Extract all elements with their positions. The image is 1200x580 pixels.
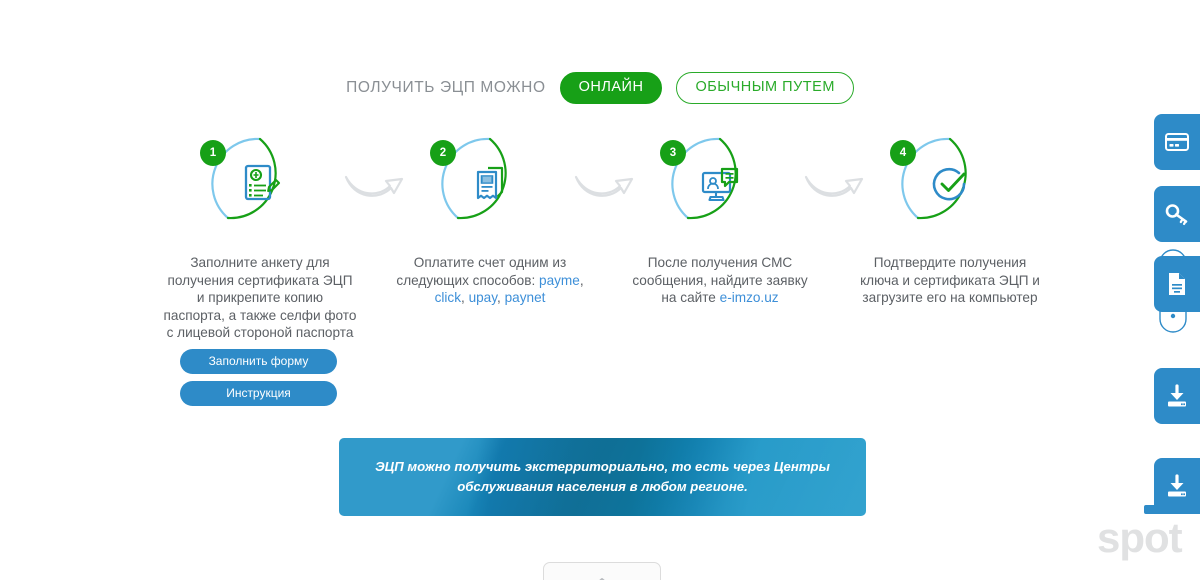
scroll-to-top-button[interactable] <box>543 562 661 580</box>
step-1-description: Заполните анкету для получения сертифика… <box>155 254 365 342</box>
instruction-button[interactable]: Инструкция <box>180 381 337 406</box>
step-arrow-icon <box>342 163 408 207</box>
step-4-circle: 4 <box>896 130 1004 238</box>
monitor-chat-icon <box>696 160 744 208</box>
chevron-up-icon <box>594 573 610 580</box>
step-2: 2 <box>385 130 595 238</box>
link-click[interactable]: click <box>435 290 461 305</box>
credit-card-icon <box>1164 129 1190 155</box>
step-1-badge: 1 <box>200 140 226 166</box>
step-1-line-3: и прикрепите копию <box>197 290 323 305</box>
step-1-line-5: с лицевой стороной паспорта <box>167 325 354 340</box>
info-banner-text: ЭЦП можно получить экстерриториально, то… <box>368 457 838 497</box>
step-4: 4 <box>845 130 1055 238</box>
sidebar-item-payment[interactable] <box>1154 114 1200 170</box>
step-2-circle: 2 <box>436 130 544 238</box>
step-2-line-1: Оплатите счет одним из <box>414 255 566 270</box>
step-4-line-2: ключа и сертификата ЭЦП и <box>860 273 1040 288</box>
sidebar-item-key[interactable] <box>1154 186 1200 242</box>
key-icon <box>1164 201 1190 227</box>
step-1-circle: 1 <box>206 130 314 238</box>
step-1-line-4: паспорта, а также селфи фото <box>164 308 357 323</box>
sidebar-item-download-2[interactable] <box>1154 458 1200 514</box>
document-icon <box>1164 271 1190 297</box>
link-paynet[interactable]: paynet <box>505 290 546 305</box>
step-1-line-1: Заполните анкету для <box>190 255 329 270</box>
step-1-actions: Заполнить форму Инструкция <box>180 349 337 413</box>
document-with-pencil-icon <box>236 160 284 208</box>
fill-form-button[interactable]: Заполнить форму <box>180 349 337 374</box>
link-e-imzo-uz[interactable]: e-imzo.uz <box>720 290 779 305</box>
step-2-line-2-prefix: следующих способов: <box>396 273 539 288</box>
step-arrow-icon <box>802 163 868 207</box>
toggle-traditional[interactable]: ОБЫЧНЫМ ПУТЕМ <box>676 72 853 104</box>
step-3-line-1: После получения СМС <box>648 255 792 270</box>
step-3-circle: 3 <box>666 130 774 238</box>
check-circle-icon <box>926 160 974 208</box>
step-3-line-2: сообщения, найдите заявку <box>632 273 807 288</box>
step-2-comma-2: , <box>461 290 469 305</box>
toggle-online[interactable]: ОНЛАЙН <box>560 72 663 104</box>
link-upay[interactable]: upay <box>469 290 497 305</box>
get-ecp-header: ПОЛУЧИТЬ ЭЦП МОЖНО ОНЛАЙН ОБЫЧНЫМ ПУТЕМ <box>0 72 1200 104</box>
step-4-line-1: Подтвердите получения <box>874 255 1026 270</box>
step-3-description: После получения СМС сообщения, найдите з… <box>615 254 825 307</box>
step-2-description: Оплатите счет одним из следующих способо… <box>385 254 595 307</box>
info-banner: ЭЦП можно получить экстерриториально, то… <box>339 438 866 516</box>
step-3: 3 <box>615 130 825 238</box>
step-4-line-3: загрузите его на компьютер <box>862 290 1037 305</box>
download-icon <box>1164 473 1190 499</box>
step-arrow-icon <box>572 163 638 207</box>
step-4-description: Подтвердите получения ключа и сертификат… <box>845 254 1055 307</box>
step-3-badge: 3 <box>660 140 686 166</box>
page-root: ПОЛУЧИТЬ ЭЦП МОЖНО ОНЛАЙН ОБЫЧНЫМ ПУТЕМ … <box>0 0 1200 580</box>
sidebar-item-document[interactable] <box>1154 256 1200 312</box>
step-1: 1 <box>155 130 365 238</box>
step-2-badge: 2 <box>430 140 456 166</box>
spot-watermark: spot <box>1097 517 1182 559</box>
step-2-comma-1: , <box>580 273 584 288</box>
step-2-comma-3: , <box>497 290 505 305</box>
step-1-line-2: получения сертификата ЭЦП <box>168 273 353 288</box>
sidebar-item-download-1[interactable] <box>1154 368 1200 424</box>
link-payme[interactable]: payme <box>539 273 580 288</box>
step-4-badge: 4 <box>890 140 916 166</box>
right-sidebar <box>1152 0 1200 580</box>
info-banner-line-2: населения в любом регионе. <box>557 479 748 494</box>
step-3-line-3-prefix: на сайте <box>661 290 719 305</box>
receipt-invoice-icon <box>466 160 514 208</box>
download-icon <box>1164 383 1190 409</box>
header-label: ПОЛУЧИТЬ ЭЦП МОЖНО <box>346 79 546 97</box>
